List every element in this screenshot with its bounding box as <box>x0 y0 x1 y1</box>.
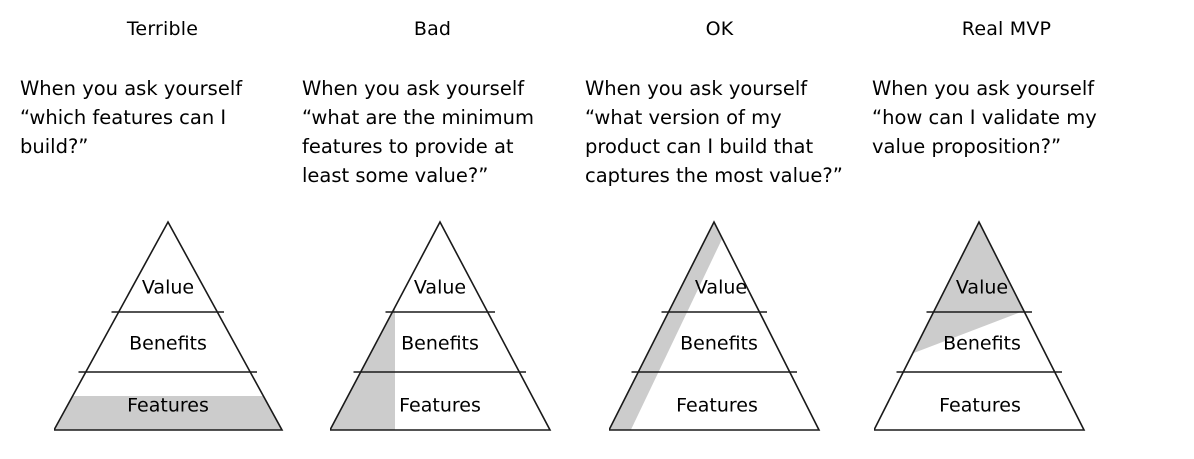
column-real-mvp: Real MVP When you ask yourself “how can … <box>856 0 1141 459</box>
mvp-pyramid-comparison: Terrible When you ask yourself “which fe… <box>0 0 1194 459</box>
column-question-terrible: When you ask yourself “which features ca… <box>20 74 282 161</box>
column-bad: Bad When you ask yourself “what are the … <box>290 0 575 459</box>
pyramid-real-mvp: Value Benefits Features <box>856 214 1141 444</box>
tier-label-value: Value <box>695 277 747 299</box>
tier-label-features: Features <box>399 395 481 417</box>
pyramid-svg-real-mvp: Value Benefits Features <box>874 214 1099 438</box>
tier-label-features: Features <box>127 395 209 417</box>
tier-label-benefits: Benefits <box>680 333 758 355</box>
tier-label-benefits: Benefits <box>943 333 1021 355</box>
tier-label-features: Features <box>676 395 758 417</box>
tier-label-benefits: Benefits <box>129 333 207 355</box>
pyramid-svg-terrible: Value Benefits Features <box>54 214 294 438</box>
pyramid-terrible: Value Benefits Features <box>8 214 293 444</box>
tier-label-value: Value <box>142 277 194 299</box>
column-question-bad: When you ask yourself “what are the mini… <box>302 74 564 190</box>
column-terrible: Terrible When you ask yourself “which fe… <box>8 0 293 459</box>
column-title-real-mvp: Real MVP <box>856 18 1149 40</box>
column-title-terrible: Terrible <box>8 18 305 40</box>
tier-label-value: Value <box>414 277 466 299</box>
tier-label-benefits: Benefits <box>401 333 479 355</box>
pyramid-ok: Value Benefits Features <box>573 214 858 444</box>
tier-label-features: Features <box>939 395 1021 417</box>
column-ok: OK When you ask yourself “what version o… <box>573 0 858 459</box>
pyramid-svg-ok: Value Benefits Features <box>609 214 834 438</box>
column-title-ok: OK <box>573 18 862 40</box>
tier-label-value: Value <box>956 277 1008 299</box>
column-question-ok: When you ask yourself “what version of m… <box>585 74 847 190</box>
pyramid-bad: Value Benefits Features <box>290 214 575 444</box>
column-question-real-mvp: When you ask yourself “how can I validat… <box>872 74 1134 161</box>
column-title-bad: Bad <box>290 18 575 40</box>
pyramid-svg-bad: Value Benefits Features <box>330 214 562 438</box>
